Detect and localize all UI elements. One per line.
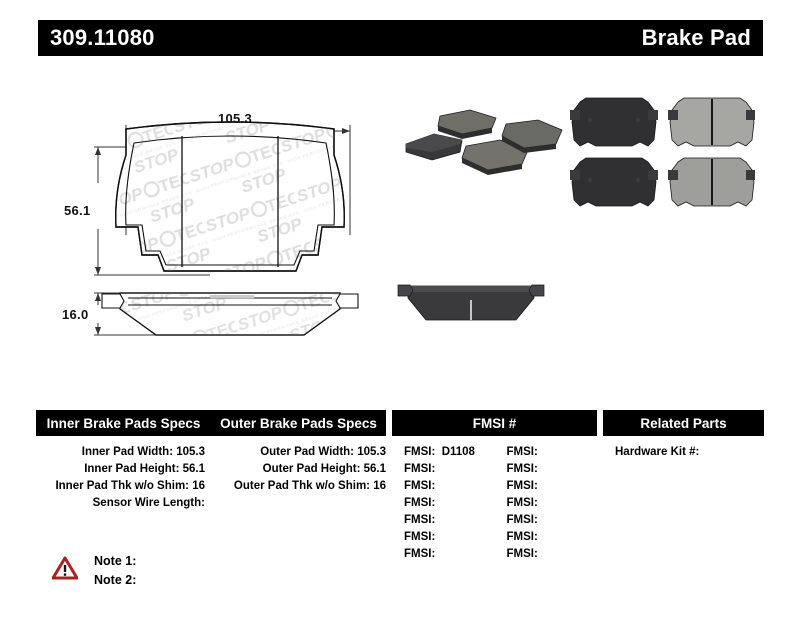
fmsi-subcolumn-2-row: FMSI: [501,478,604,495]
table-body: Inner Pad Width: 105.3Inner Pad Height: … [36,444,764,563]
pad-face-view [100,110,370,285]
fmsi-subcolumn-2-row: FMSI: [501,444,604,461]
fmsi-subcolumn-2-row: FMSI: [501,461,604,478]
height-dimension-label: 56.1 [64,203,91,218]
related-parts-column-row: Hardware Kit #: [615,444,764,461]
part-number: 309.11080 [50,27,155,49]
warning-triangle-icon [52,556,78,580]
note-lines-row: Note 2: [94,571,136,590]
column-header-outer: Outer Brake Pads Specs [211,416,386,431]
product-photo-angled-group [404,100,564,180]
thickness-dimension-label: 16.0 [62,307,89,322]
inner-specs-column: Inner Pad Width: 105.3Inner Pad Height: … [36,444,211,563]
fmsi-subcolumn-1-row: FMSI: [398,461,501,478]
column-header-inner: Inner Brake Pads Specs [36,416,211,431]
outer-specs-column-row: Outer Pad Thk w/o Shim: 16 [217,478,392,495]
inner-specs-column-row: Sensor Wire Length: [36,495,211,512]
fmsi-subcolumn-1-row: FMSI: [398,529,501,546]
fmsi-subcolumn-1-row: FMSI: [398,478,501,495]
inner-specs-column-row: Inner Pad Thk w/o Shim: 16 [36,478,211,495]
fmsi-subcolumn-2-row: FMSI: [501,512,604,529]
related-parts-column: Hardware Kit #: [609,444,764,563]
pad-side-view [102,285,358,343]
header-inner-outer-block: Inner Brake Pads Specs Outer Brake Pads … [36,410,386,436]
notes-section: Note 1:Note 2: [52,552,136,590]
outer-specs-column-row: Outer Pad Height: 56.1 [217,461,392,478]
technical-drawing: STOP TECH HIGH PERFORMANCE BRAKE SYSTEMS… [60,95,400,355]
fmsi-subcolumn-1-row: FMSI: [398,546,501,563]
table-header-row: Inner Brake Pads Specs Outer Brake Pads … [36,410,764,436]
header-bar: 309.11080 Brake Pad [38,20,763,56]
pad-outline-svg: STOP TECH HIGH PERFORMANCE BRAKE SYSTEMS… [60,95,400,355]
note-lines-row: Note 1: [94,552,136,571]
note-lines: Note 1:Note 2: [94,552,136,590]
product-photo-flat-group [570,96,755,216]
width-dimension-label: 105.3 [218,111,252,126]
product-photo-edge-view [396,280,546,326]
outer-specs-column-row: Outer Pad Width: 105.3 [217,444,392,461]
outer-specs-column: Outer Pad Width: 105.3Outer Pad Height: … [217,444,392,563]
fmsi-subcolumn-1: FMSI: D1108FMSI:FMSI:FMSI:FMSI:FMSI:FMSI… [398,444,501,563]
fmsi-subcolumn-1-row: FMSI: D1108 [398,444,501,461]
fmsi-subcolumn-1-row: FMSI: [398,512,501,529]
inner-specs-column-row: Inner Pad Width: 105.3 [36,444,211,461]
fmsi-subcolumn-2-row: FMSI: [501,546,604,563]
specifications-table: Inner Brake Pads Specs Outer Brake Pads … [36,410,764,563]
product-type-title: Brake Pad [642,27,751,49]
inner-specs-column-row: Inner Pad Height: 56.1 [36,461,211,478]
column-header-related-parts: Related Parts [603,410,764,436]
fmsi-subcolumn-2-row: FMSI: [501,495,604,512]
fmsi-subcolumn-1-row: FMSI: [398,495,501,512]
fmsi-column: FMSI: D1108FMSI:FMSI:FMSI:FMSI:FMSI:FMSI… [398,444,603,563]
column-header-fmsi: FMSI # [392,410,597,436]
fmsi-subcolumn-2: FMSI:FMSI:FMSI:FMSI:FMSI:FMSI:FMSI: [501,444,604,563]
fmsi-subcolumn-2-row: FMSI: [501,529,604,546]
